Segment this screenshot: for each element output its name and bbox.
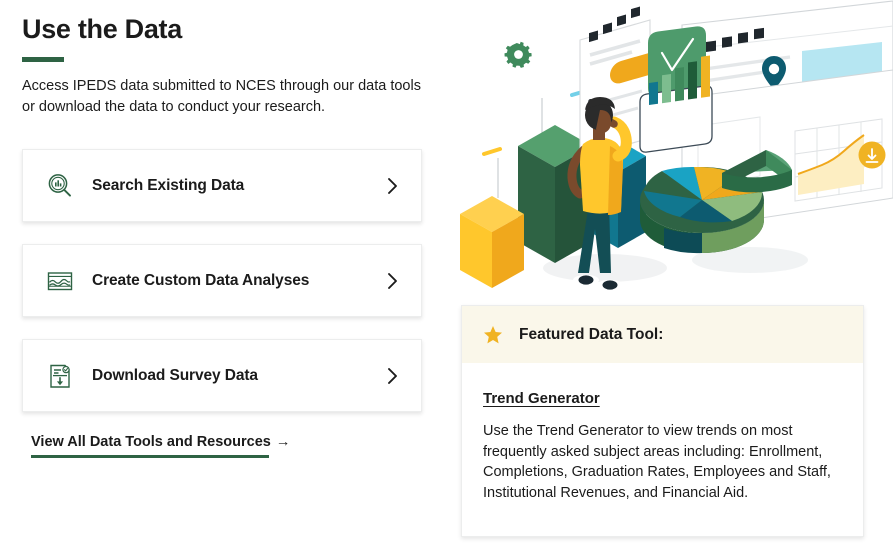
title-accent-rule <box>22 57 64 62</box>
star-icon <box>483 325 503 345</box>
page-title: Use the Data <box>22 14 182 45</box>
view-all-underline <box>31 455 269 458</box>
download-doc-icon <box>43 359 77 393</box>
featured-panel-header: Featured Data Tool: <box>462 306 863 363</box>
tool-card-label: Search Existing Data <box>92 177 387 195</box>
right-column: % % <box>440 0 893 544</box>
arrow-right-icon: → <box>276 434 291 450</box>
featured-description: Use the Trend Generator to view trends o… <box>483 421 839 503</box>
trend-generator-link[interactable]: Trend Generator <box>483 390 600 407</box>
tool-card-search-existing-data[interactable]: Search Existing Data <box>22 149 422 222</box>
chevron-right-icon[interactable] <box>387 177 399 195</box>
search-chart-icon <box>43 169 77 203</box>
use-the-data-page: Use the Data Access IPEDS data submitted… <box>0 0 893 544</box>
tool-card-label: Create Custom Data Analyses <box>92 272 387 290</box>
tool-card-label: Download Survey Data <box>92 367 387 385</box>
featured-panel-body: Trend Generator Use the Trend Generator … <box>462 363 863 503</box>
chevron-right-icon[interactable] <box>387 367 399 385</box>
data-analytics-illustration: % % <box>450 0 893 298</box>
tool-card-download-survey-data[interactable]: Download Survey Data <box>22 339 422 412</box>
view-all-label: View All Data Tools and Resources <box>31 434 271 450</box>
tool-card-create-custom-data-analyses[interactable]: Create Custom Data Analyses <box>22 244 422 317</box>
left-column: Use the Data Access IPEDS data submitted… <box>0 0 440 544</box>
iso-bar-gold <box>460 196 524 288</box>
gear-icon <box>504 42 531 68</box>
chevron-right-icon[interactable] <box>387 272 399 290</box>
download-badge-icon <box>859 142 886 169</box>
view-all-data-tools-link[interactable]: View All Data Tools and Resources → <box>31 434 290 455</box>
featured-data-tool-panel: Featured Data Tool: Trend Generator Use … <box>461 305 864 537</box>
line-chart-icon <box>43 264 77 298</box>
view-all-wrapper: View All Data Tools and Resources → <box>31 433 290 458</box>
featured-heading: Featured Data Tool: <box>519 326 663 344</box>
intro-paragraph: Access IPEDS data submitted to NCES thro… <box>22 76 424 118</box>
